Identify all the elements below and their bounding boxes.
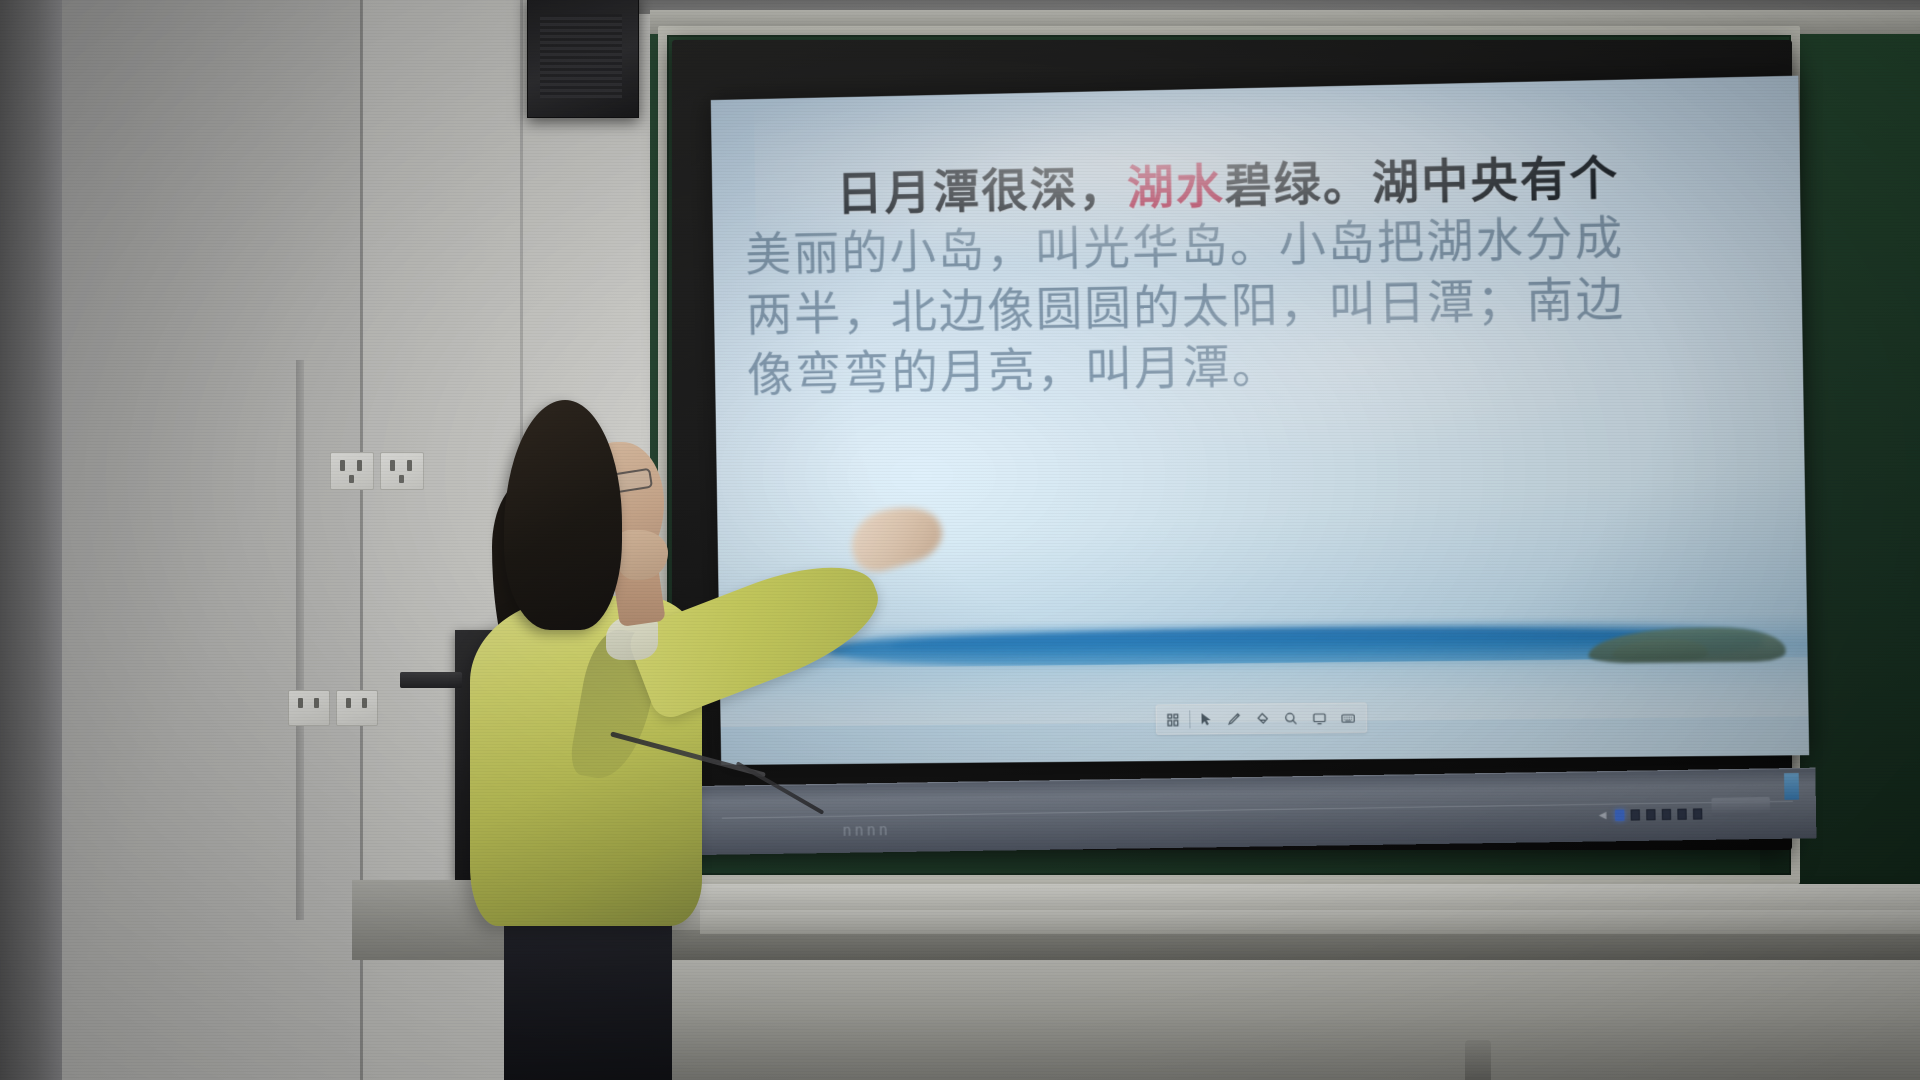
wall-left-panel: [62, 0, 362, 1080]
teacher-hair: [504, 400, 622, 630]
panel-led-row: ◄: [1596, 807, 1702, 823]
socket-upper-right: [380, 452, 424, 490]
teacher-skirt: [504, 900, 672, 1080]
wall-left-edge: [0, 0, 62, 1080]
panel-prev-arrow-icon[interactable]: ◄: [1596, 808, 1609, 822]
teacher-chin: [616, 530, 668, 580]
grid-menu-icon[interactable]: [1160, 707, 1187, 731]
panel-led-5: [1677, 808, 1687, 819]
panel-port: [1712, 797, 1771, 816]
wall-vertical-strip: [296, 360, 304, 920]
eraser-icon[interactable]: [1249, 706, 1276, 731]
screenshot-root: 日月潭很深，湖水碧绿。湖中央有个 美丽的小岛，叫光华岛。小岛把湖水分成 两半，北…: [0, 0, 1920, 1080]
whiteboard-toolbar[interactable]: [1155, 702, 1367, 734]
toolbar-separator: [1189, 710, 1190, 728]
floor-object: [1465, 1040, 1491, 1080]
slide-line-1-part-1: 日月潭很深，: [836, 160, 1128, 220]
screen-icon[interactable]: [1306, 706, 1333, 731]
panel-led-1: [1615, 809, 1625, 820]
socket-lower-left: [288, 690, 330, 726]
pen-icon[interactable]: [1220, 707, 1247, 732]
socket-lower-right: [336, 690, 378, 726]
slide-text-block: 日月潭很深，湖水碧绿。湖中央有个 美丽的小岛，叫光华岛。小岛把湖水分成 两半，北…: [744, 144, 1781, 405]
board-ledge: [700, 910, 1920, 934]
slide-surface: 日月潭很深，湖水碧绿。湖中央有个 美丽的小岛，叫光华岛。小岛把湖水分成 两半，北…: [711, 76, 1809, 765]
front-bench: [560, 960, 1920, 1080]
projected-screen[interactable]: 日月潭很深，湖水碧绿。湖中央有个 美丽的小岛，叫光华岛。小岛把湖水分成 两半，北…: [711, 76, 1809, 765]
slide-line-1-part-3: 碧绿。湖中央有个: [1224, 149, 1619, 212]
teacher-figure: [430, 400, 730, 1080]
panel-brand-label: nnnn: [842, 821, 891, 840]
chalk-tray-front: [640, 930, 1920, 960]
panel-led-6: [1693, 808, 1703, 819]
panel-logo-icon: [1784, 773, 1799, 800]
panel-led-4: [1661, 809, 1671, 820]
cursor-arrow-icon[interactable]: [1192, 707, 1219, 731]
keyboard-icon[interactable]: [1335, 706, 1362, 731]
slide-highlight-hushui: 湖水: [1127, 158, 1226, 214]
speaker-grille-icon: [540, 14, 622, 98]
panel-led-3: [1646, 809, 1656, 820]
magnifier-icon[interactable]: [1278, 706, 1305, 731]
panel-led-2: [1630, 809, 1640, 820]
socket-upper-left: [330, 452, 374, 490]
